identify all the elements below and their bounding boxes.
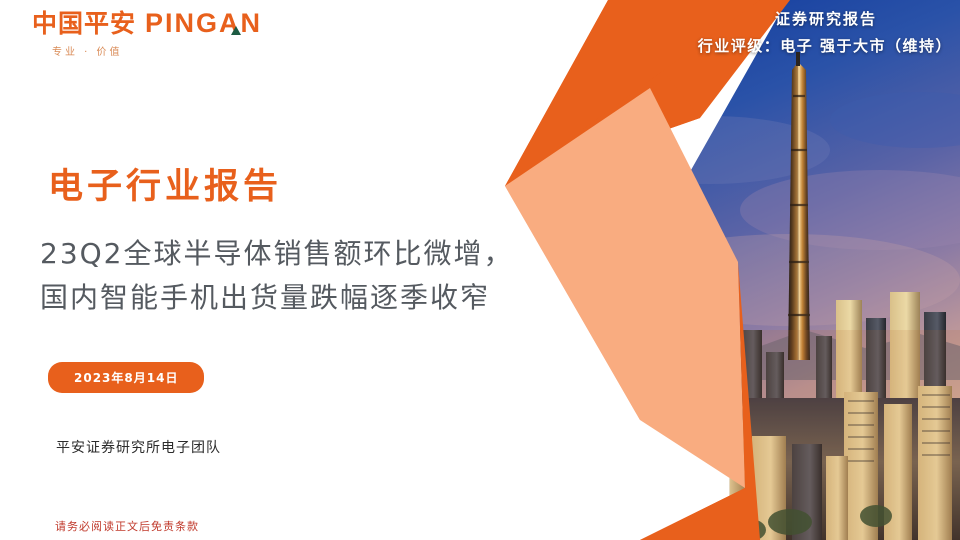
- industry-rating-label: 行业评级：电子 强于大市（维持）: [698, 35, 952, 56]
- subtitle-line-1: 23Q2全球半导体销售额环比微增，: [40, 232, 510, 276]
- subtitle-line-2: 国内智能手机出货量跌幅逐季收窄: [40, 276, 510, 320]
- report-header: 证券研究报告 行业评级：电子 强于大市（维持）: [698, 8, 952, 56]
- logo-tagline: 专业 · 价值: [52, 43, 262, 58]
- logo-chinese-text: 中国平安: [32, 11, 136, 36]
- brand-logo: 中国平安 PINGAN 专业 · 价值: [32, 10, 262, 58]
- logo-row: 中国平安 PINGAN: [32, 10, 262, 37]
- logo-english-text: PINGAN: [145, 8, 262, 38]
- publish-date-badge: 2023年8月14日: [48, 362, 204, 393]
- logo-english-wrap: PINGAN: [145, 10, 262, 37]
- series-title: 电子行业报告: [48, 168, 282, 207]
- report-cover-slide: 中国平安 PINGAN 专业 · 价值 证券研究报告 行业评级：电子 强于大市（…: [0, 0, 960, 540]
- author-team-label: 平安证券研究所电子团队: [56, 437, 221, 457]
- disclaimer-notice: 请务必阅读正文后免责条款: [55, 518, 199, 534]
- report-type-label: 证券研究报告: [698, 8, 952, 29]
- logo-triangle-mark-icon: [231, 26, 241, 35]
- report-subtitle: 23Q2全球半导体销售额环比微增， 国内智能手机出货量跌幅逐季收窄: [40, 232, 510, 320]
